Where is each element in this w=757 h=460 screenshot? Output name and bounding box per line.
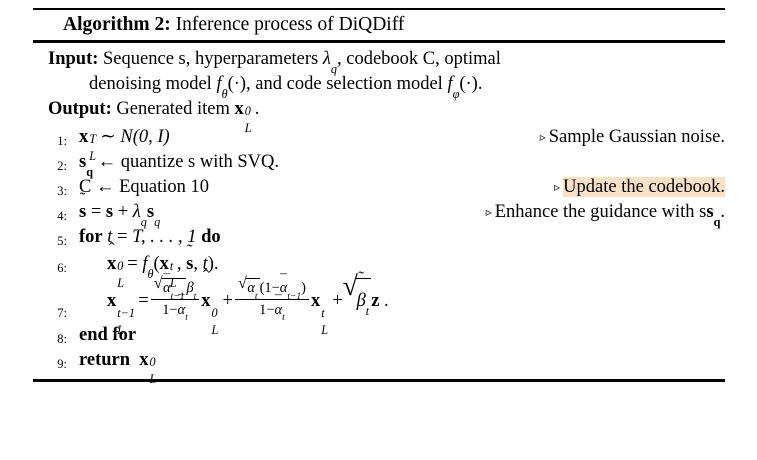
keyword-return: return [79, 350, 130, 370]
algorithm-title: Algorithm 2: Inference process of DiQDif… [33, 10, 725, 40]
step-6: 6: ˆx0L= fθ(xtL, ˜s, t). [33, 252, 725, 277]
step-1: 1: xTL∼ N(0, I) ▹Sample Gaussian noise. [33, 125, 725, 150]
overbar-accent-icon: ¯ [163, 273, 171, 286]
step-7-fraction-2: √αt(1−¯αt−1)1−¯αt [235, 277, 309, 318]
step-9: 9: return x0L [33, 348, 725, 373]
alpha-bar-4: ¯α [275, 301, 283, 319]
step-3-comment-text: Update the codebook. [563, 177, 725, 197]
step-7-f2-paren-close: ) [301, 280, 306, 296]
step-7: 7: xt−1L=√¯αt−1βt1−¯αtˆx0L+√αt(1−¯αt−1)1… [33, 277, 725, 323]
output-variable: x [235, 99, 244, 119]
step-7-f1-den-alpha-subscript: t [185, 313, 188, 323]
algorithm-body: Input: Sequence s, hyperparameters λq, c… [33, 43, 725, 379]
step-5-number: 5: [47, 229, 67, 254]
output-line: Output: Generated item x0L. [33, 97, 725, 122]
output-label: Output: [48, 99, 112, 119]
step-7-term3-beta-subscript: t [366, 304, 369, 318]
step-3-comment: ▹Update the codebook. [554, 175, 725, 200]
step-7-term1-x-hat: ˆx [201, 279, 210, 323]
step-7-f1-den-text: 1− [162, 302, 177, 318]
input-line-2: denoising model fθ(·), and code selectio… [33, 72, 725, 97]
step-7-term2-variable: x [311, 291, 320, 311]
step-7-fraction-2-numerator: √αt(1−¯αt−1) [235, 277, 309, 298]
bottom-rule [33, 379, 725, 382]
step-6-x-hat: ˆx [107, 252, 116, 277]
step-7-term3-z: z [371, 291, 379, 311]
keyword-for: for [112, 325, 136, 345]
step-9-subscript: L [150, 367, 157, 392]
beta-tilde: ˜β [357, 279, 366, 323]
step-3-rest: Equation 10 [119, 177, 209, 197]
keyword-end: end [79, 325, 108, 345]
input-label: Input: [48, 49, 98, 69]
input-text-part-2: , codebook C, optimal [337, 49, 501, 69]
step-5: 5: for t = T, . . . , 1 do [33, 225, 725, 250]
step-4-lambda: λ [133, 202, 141, 222]
step-2: 2: sq ← quantize s with SVQ. [33, 150, 725, 175]
step-6-comma-2: , [193, 254, 198, 274]
comment-triangle-icon: ▹ [486, 205, 495, 219]
radical-sign-icon: √ [154, 276, 163, 292]
radical-sign-icon: √ [343, 273, 358, 301]
radical-sign-icon: √ [238, 276, 247, 292]
step-7-period: . [384, 291, 389, 311]
keyword-for: for [79, 227, 103, 247]
overbar-accent-icon: ¯ [177, 294, 185, 307]
input-line-1: Input: Sequence s, hyperparameters λq, c… [33, 47, 725, 72]
input-line2-part-1: denoising model [89, 74, 216, 94]
input-text-part-1: Sequence s, hyperparameters [103, 49, 323, 69]
algorithm-title-name: Inference process of DiQDiff [176, 14, 405, 35]
step-4-comment-end: . [720, 202, 725, 222]
step-1-distribution: N [120, 127, 132, 147]
step-7-f2-den-text: 1− [259, 302, 274, 318]
comment-triangle-icon: ▹ [540, 130, 549, 144]
step-4-plus: + [118, 202, 128, 222]
step-1-variable: x [79, 127, 88, 147]
keyword-do: do [201, 227, 221, 247]
step-3-arrow-icon: ← [96, 177, 115, 197]
step-4-equals: = [91, 202, 101, 222]
alpha-bar-1: ¯α [163, 279, 171, 297]
step-4: 4: ˜s = s + λqsq ▹Enhance the guidance w… [33, 200, 725, 225]
hat-accent-icon: ˆ [107, 241, 116, 259]
step-1-distribution-args: (0, I) [133, 127, 170, 147]
alpha-bar-2: ¯α [178, 301, 186, 319]
sqrt-icon: √˜βt [343, 277, 372, 323]
step-7-f2-alpha2-subscript: t−1 [287, 292, 301, 302]
step-6-arg2-s-tilde: ˜s [186, 252, 193, 277]
overbar-accent-icon: ¯ [279, 273, 287, 286]
step-7-term3-radicand: ˜βt [356, 278, 372, 323]
step-4-rhs-1: s [106, 202, 113, 222]
step-5-equals: = [117, 227, 127, 247]
sqrt-icon: √αt [238, 277, 260, 297]
step-7-term3-beta: β [357, 291, 366, 311]
step-8: 8: end for [33, 323, 725, 348]
step-7-body: xt−1L=√¯αt−1βt1−¯αtˆx0L+√αt(1−¯αt−1)1−¯α… [33, 277, 389, 323]
f-theta-symbol: f [216, 74, 221, 94]
step-7-f2-alpha: α [247, 280, 255, 296]
tilde-accent-icon: ˜ [79, 190, 86, 207]
tilde-accent-icon: ˜ [357, 269, 366, 286]
hat-accent-icon: ˆ [201, 268, 210, 286]
f-phi-symbol: f [447, 74, 452, 94]
step-7-term1-variable: x [201, 291, 210, 311]
step-7-f2-den-alpha-subscript: t [282, 313, 285, 323]
step-7-f2-radicand: αt [246, 278, 259, 297]
algorithm-title-label: Algorithm 2: [63, 14, 171, 35]
f-phi-args: (·). [459, 74, 482, 94]
step-7-f2-alpha-subscript: t [255, 292, 258, 302]
comment-triangle-icon: ▹ [554, 180, 563, 194]
step-7-f1-beta: β [186, 280, 193, 296]
step-1-comment: ▹Sample Gaussian noise. [540, 125, 725, 150]
step-4-s-tilde: ˜s [79, 200, 86, 225]
step-7-lhs-variable: x [107, 291, 116, 311]
step-2-body: sq ← quantize s with SVQ. [33, 150, 279, 175]
output-text: Generated item [116, 99, 234, 119]
step-7-fraction-1-numerator: √¯αt−1βt [151, 277, 200, 298]
step-9-number: 9: [47, 352, 67, 377]
step-1-comment-text: Sample Gaussian noise. [549, 127, 725, 147]
step-9-variable: x [139, 350, 148, 370]
step-4-comment-text: Enhance the guidance with s [495, 202, 707, 222]
step-3: 3: C ← Equation 10 ▹Update the codebook. [33, 175, 725, 200]
lambda-symbol: λ [323, 49, 331, 69]
tilde-accent-icon: ˜ [186, 242, 193, 259]
step-4-comment-var: s [706, 202, 713, 222]
step-6-arg1-variable: x [160, 254, 169, 274]
algorithm-block: Algorithm 2: Inference process of DiQDif… [33, 8, 725, 382]
step-2-rest: quantize s with SVQ. [121, 152, 279, 172]
overbar-accent-icon: ¯ [274, 294, 282, 307]
f-theta-args: (·), and code selection model [228, 74, 448, 94]
step-2-arrow-icon: ← [98, 152, 117, 172]
step-4-comment: ▹Enhance the guidance with ssq. [486, 200, 725, 225]
step-7-f1-beta-subscript: t [194, 292, 197, 302]
step-7-fraction-1: √¯αt−1βt1−¯αt [151, 277, 200, 318]
